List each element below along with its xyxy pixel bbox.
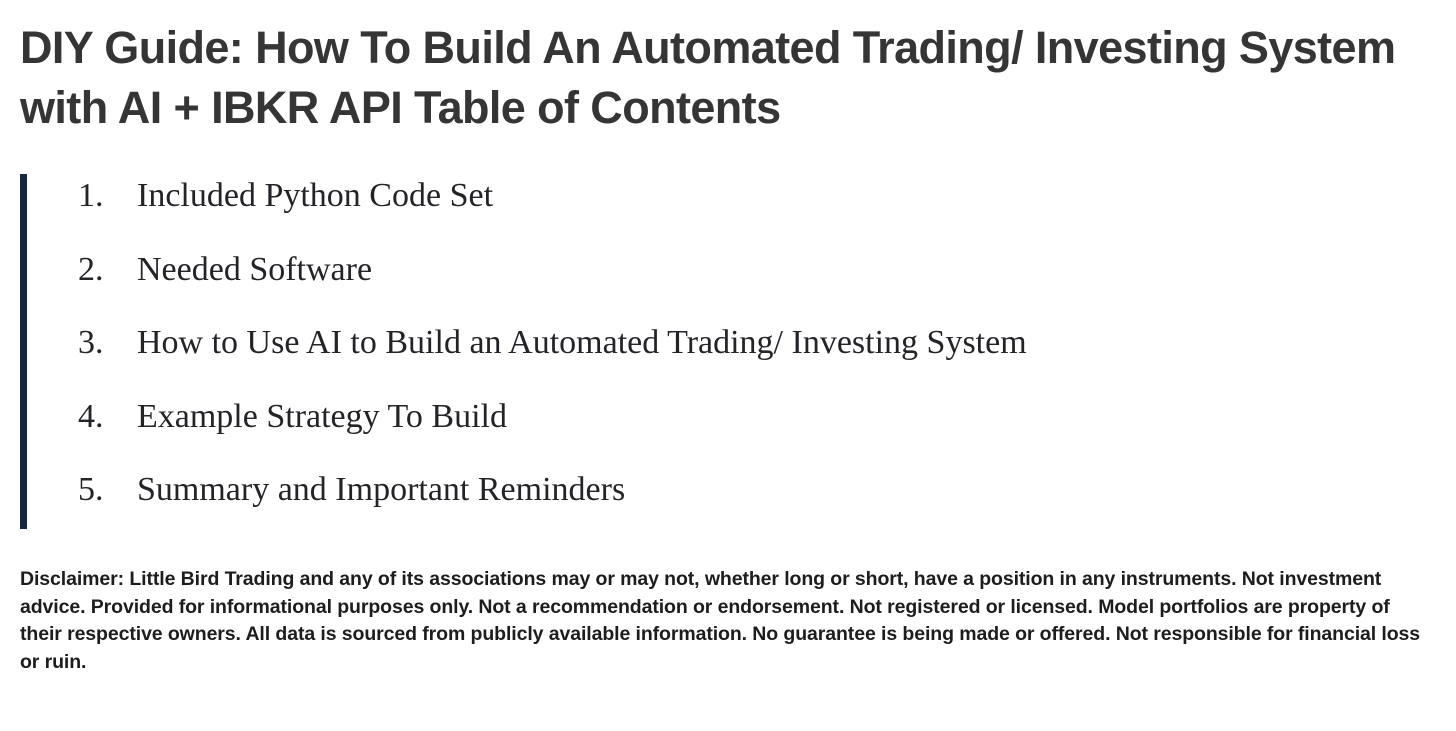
list-item-number: 3. — [78, 321, 137, 365]
document-page: DIY Guide: How To Build An Automated Tra… — [0, 0, 1456, 731]
table-of-contents-block: 1. Included Python Code Set 2. Needed So… — [20, 174, 1430, 529]
list-item-label: Included Python Code Set — [137, 174, 493, 218]
list-item-label: Summary and Important Reminders — [137, 468, 625, 512]
list-item-label: Needed Software — [137, 248, 372, 292]
list-item-label: Example Strategy To Build — [137, 395, 507, 439]
list-item-label: How to Use AI to Build an Automated Trad… — [137, 321, 1027, 365]
list-item-number: 4. — [78, 395, 137, 439]
page-title: DIY Guide: How To Build An Automated Tra… — [20, 18, 1420, 138]
list-item[interactable]: 3. How to Use AI to Build an Automated T… — [78, 321, 1418, 395]
list-item[interactable]: 1. Included Python Code Set — [78, 174, 1418, 248]
accent-bar — [20, 174, 27, 529]
list-item[interactable]: 2. Needed Software — [78, 248, 1418, 322]
list-item-number: 2. — [78, 248, 137, 292]
list-item[interactable]: 5. Summary and Important Reminders — [78, 468, 1418, 542]
list-item[interactable]: 4. Example Strategy To Build — [78, 395, 1418, 469]
list-item-number: 5. — [78, 468, 137, 512]
disclaimer-text: Disclaimer: Little Bird Trading and any … — [20, 566, 1430, 676]
table-of-contents-list: 1. Included Python Code Set 2. Needed So… — [78, 174, 1418, 542]
list-item-number: 1. — [78, 174, 137, 218]
